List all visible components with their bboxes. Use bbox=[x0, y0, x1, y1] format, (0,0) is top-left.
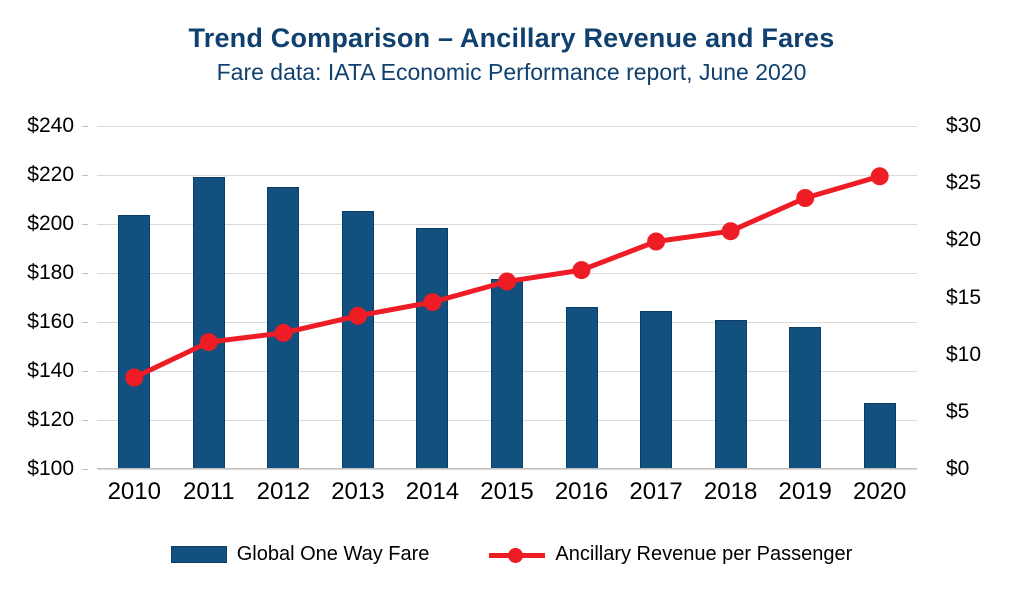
bar-swatch-icon bbox=[171, 546, 227, 563]
bar bbox=[715, 320, 747, 469]
left-axis-tick-mark bbox=[82, 322, 88, 323]
right-axis-tick-label: $5 bbox=[946, 401, 969, 422]
bar bbox=[416, 228, 448, 469]
left-axis-tick-mark bbox=[82, 273, 88, 274]
bar bbox=[640, 311, 672, 469]
line-marker bbox=[871, 167, 889, 185]
bar bbox=[193, 177, 225, 469]
bar bbox=[342, 211, 374, 469]
bar bbox=[864, 403, 896, 469]
right-axis-tick-label: $0 bbox=[946, 458, 969, 479]
left-axis-tick-mark bbox=[82, 126, 88, 127]
x-axis-baseline bbox=[97, 468, 917, 469]
left-axis-tick-label: $160 bbox=[27, 311, 74, 332]
left-axis-tick-mark bbox=[82, 175, 88, 176]
left-axis-tick-mark bbox=[82, 420, 88, 421]
left-axis-tick-mark bbox=[82, 224, 88, 225]
bar bbox=[789, 327, 821, 469]
plot-area bbox=[97, 126, 917, 469]
chart-title-block: Trend Comparison – Ancillary Revenue and… bbox=[0, 22, 1023, 87]
legend-item-ancillary-revenue-per-passenger[interactable]: Ancillary Revenue per Passenger bbox=[489, 543, 852, 566]
right-y-axis: $30$25$20$15$10$5$0 bbox=[938, 126, 1018, 469]
bar bbox=[267, 187, 299, 469]
chart-subtitle: Fare data: IATA Economic Performance rep… bbox=[0, 57, 1023, 87]
left-axis-tick-label: $180 bbox=[27, 262, 74, 283]
line-marker-icon bbox=[489, 546, 545, 564]
right-axis-tick-label: $25 bbox=[946, 172, 981, 193]
bar bbox=[566, 307, 598, 469]
left-y-axis: $240$220$200$180$160$140$120$100 bbox=[10, 126, 88, 469]
legend-label-0: Global One Way Fare bbox=[237, 543, 430, 566]
x-axis-tick-label: 2020 bbox=[835, 477, 925, 507]
bar bbox=[491, 279, 523, 469]
chart-title: Trend Comparison – Ancillary Revenue and… bbox=[0, 22, 1023, 54]
gridline bbox=[97, 175, 917, 176]
right-axis-tick-label: $15 bbox=[946, 287, 981, 308]
right-axis-tick-label: $20 bbox=[946, 229, 981, 250]
legend-item-global-one-way-fare[interactable]: Global One Way Fare bbox=[171, 543, 430, 566]
bar bbox=[118, 215, 150, 469]
gridline bbox=[97, 469, 917, 470]
left-axis-tick-label: $220 bbox=[27, 164, 74, 185]
left-axis-tick-label: $100 bbox=[27, 458, 74, 479]
gridline bbox=[97, 126, 917, 127]
left-axis-tick-mark bbox=[82, 371, 88, 372]
right-axis-tick-label: $30 bbox=[946, 115, 981, 136]
x-axis: 2010201120122013201420152016201720182019… bbox=[97, 477, 917, 511]
line-marker bbox=[647, 233, 665, 251]
left-axis-tick-label: $200 bbox=[27, 213, 74, 234]
line-marker bbox=[796, 189, 814, 207]
left-axis-tick-label: $120 bbox=[27, 409, 74, 430]
left-axis-tick-label: $140 bbox=[27, 360, 74, 381]
line-marker bbox=[573, 261, 591, 279]
left-axis-tick-label: $240 bbox=[27, 115, 74, 136]
chart-legend: Global One Way Fare Ancillary Revenue pe… bbox=[0, 543, 1023, 566]
chart-container: Trend Comparison – Ancillary Revenue and… bbox=[0, 0, 1023, 592]
left-axis-tick-mark bbox=[82, 469, 88, 470]
right-axis-tick-label: $10 bbox=[946, 344, 981, 365]
legend-label-1: Ancillary Revenue per Passenger bbox=[555, 543, 852, 566]
